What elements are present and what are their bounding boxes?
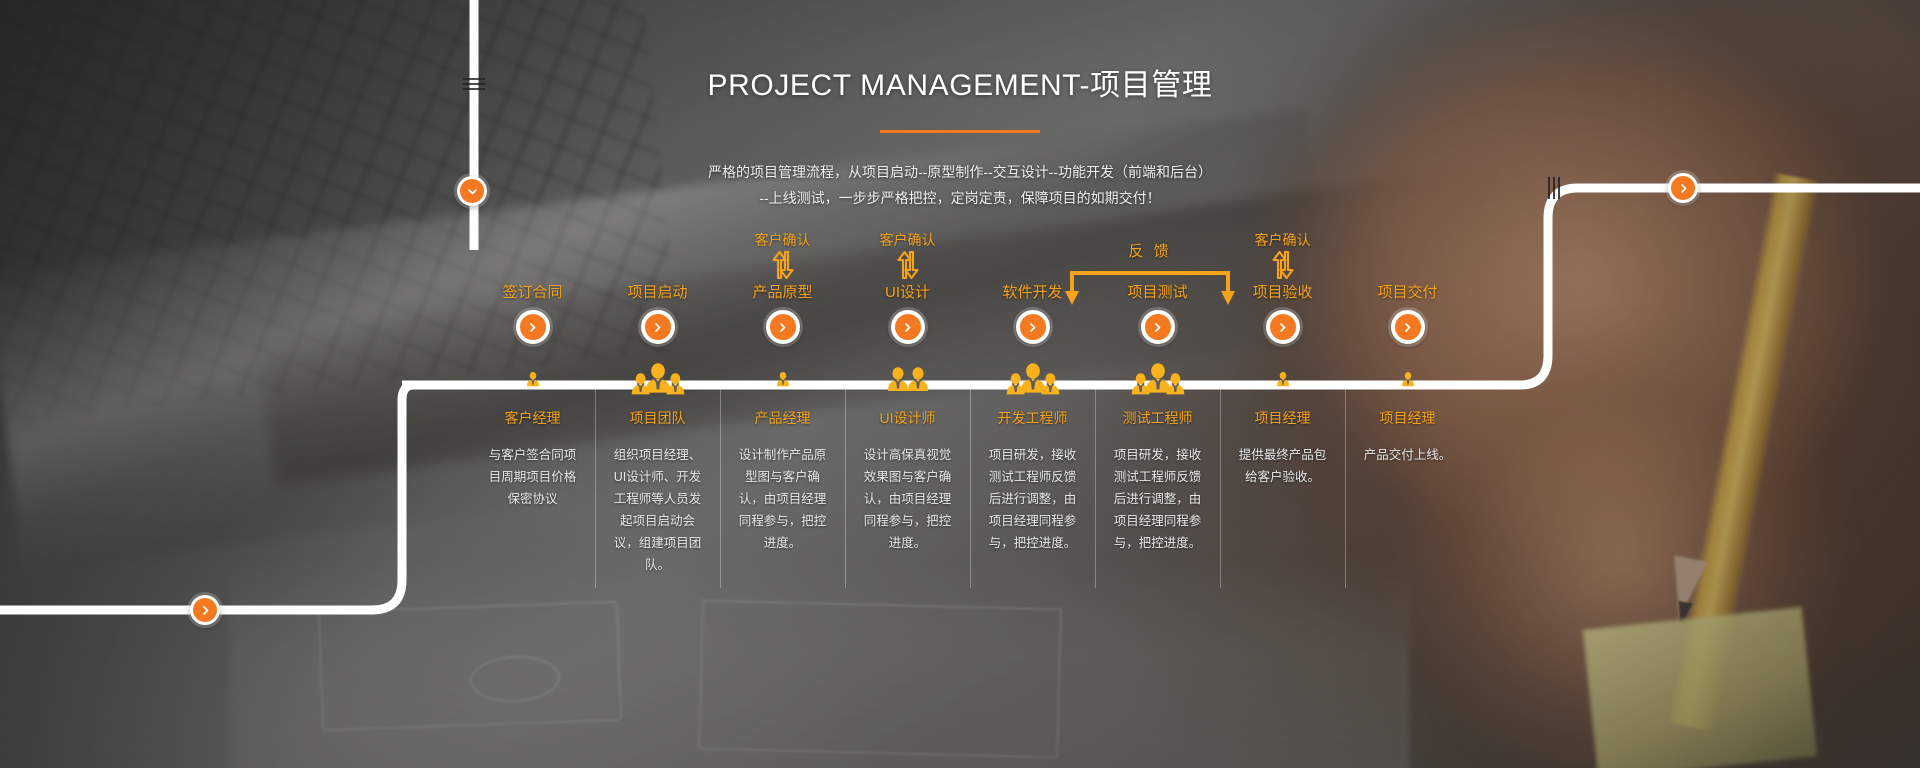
- node-bottom-left[interactable]: [190, 595, 220, 625]
- step-node-row: [1220, 304, 1345, 346]
- title-underline-rule: [880, 130, 1040, 133]
- confirm-icon-wrap: [845, 252, 970, 282]
- step-phase-label: 项目验收: [1220, 282, 1345, 304]
- subtitle-line-2: --上线测试，一步步严格把控，定岗定责，保障项目的如期交付！: [0, 185, 1920, 211]
- confirm-area: 客户确认: [720, 222, 845, 282]
- step-node[interactable]: [891, 310, 925, 344]
- chevron-right-icon: [901, 321, 914, 334]
- step-phase-label: 产品原型: [720, 282, 845, 304]
- customer-confirm-label: 客户确认: [720, 230, 845, 250]
- step-node-row: [1095, 304, 1220, 346]
- step-node-row: [970, 304, 1095, 346]
- single-person-icon: [470, 354, 595, 402]
- step-node[interactable]: [1391, 310, 1425, 344]
- node-right-end[interactable]: [1668, 173, 1698, 203]
- chevron-right-icon: [199, 604, 212, 617]
- process-step[interactable]: 项目测试测试工程师项目研发，接收测试工程师反馈后进行调整，由项目经理同程参与，把…: [1095, 222, 1220, 576]
- subtitle-line-1: 严格的项目管理流程，从项目启动--原型制作--交互设计--功能开发（前端和后台）: [0, 159, 1920, 185]
- process-step[interactable]: 软件开发开发工程师项目研发，接收测试工程师反馈后进行调整，由项目经理同程参与，把…: [970, 222, 1095, 576]
- step-node-row: [1345, 304, 1470, 346]
- process-step[interactable]: 客户确认产品原型产品经理设计制作产品原型图与客户确认，由项目经理同程参与，把控进…: [720, 222, 845, 576]
- process-steps: 签订合同客户经理与客户签合同项目周期项目价格保密协议项目启动项目团队组织项目经理…: [470, 222, 1470, 576]
- step-description: 设计制作产品原型图与客户确认，由项目经理同程参与，把控进度。: [737, 444, 829, 554]
- step-description: 设计高保真视觉效果图与客户确认，由项目经理同程参与，把控进度。: [862, 444, 954, 554]
- customer-confirm-label: 客户确认: [1220, 230, 1345, 250]
- process-step[interactable]: 客户确认UI设计UI设计师设计高保真视觉效果图与客户确认，由项目经理同程参与，把…: [845, 222, 970, 576]
- up-down-arrows-icon: [768, 250, 798, 285]
- step-role-label: UI设计师: [845, 408, 970, 428]
- step-description: 提供最终产品包给客户验收。: [1237, 444, 1329, 488]
- up-down-arrows-icon: [893, 250, 923, 285]
- column-divider: [970, 388, 971, 588]
- step-role-label: 项目经理: [1345, 408, 1470, 428]
- step-description: 项目研发，接收测试工程师反馈后进行调整，由项目经理同程参与，把控进度。: [987, 444, 1079, 554]
- step-node[interactable]: [516, 310, 550, 344]
- process-step[interactable]: 项目交付项目经理产品交付上线。: [1345, 222, 1470, 576]
- step-node[interactable]: [1266, 310, 1300, 344]
- confirm-area: [1345, 222, 1470, 282]
- confirm-area: [970, 222, 1095, 282]
- page-subtitle: 严格的项目管理流程，从项目启动--原型制作--交互设计--功能开发（前端和后台）…: [0, 159, 1920, 211]
- step-phase-label: 软件开发: [970, 282, 1095, 304]
- step-role-label: 客户经理: [470, 408, 595, 428]
- three-people-icon: [595, 354, 720, 402]
- step-node-row: [845, 304, 970, 346]
- node-top-left[interactable]: [457, 176, 487, 206]
- confirm-icon-wrap: [1220, 252, 1345, 282]
- three-people-icon: [1095, 354, 1220, 402]
- header: PROJECT MANAGEMENT-项目管理 严格的项目管理流程，从项目启动-…: [0, 60, 1920, 211]
- step-role-label: 项目经理: [1220, 408, 1345, 428]
- step-description: 与客户签合同项目周期项目价格保密协议: [487, 444, 579, 510]
- process-step[interactable]: 项目启动项目团队组织项目经理、UI设计师、开发工程师等人员发起项目启动会议，组建…: [595, 222, 720, 576]
- step-phase-label: UI设计: [845, 282, 970, 304]
- step-description: 产品交付上线。: [1362, 444, 1454, 466]
- confirm-area: [1095, 222, 1220, 282]
- customer-confirm-badge: 客户确认: [1220, 230, 1345, 282]
- step-node[interactable]: [641, 310, 675, 344]
- chevron-right-icon: [526, 321, 539, 334]
- page-title: PROJECT MANAGEMENT-项目管理: [0, 60, 1920, 104]
- single-person-icon: [1345, 354, 1470, 402]
- chevron-right-icon: [1026, 321, 1039, 334]
- chevron-right-icon: [651, 321, 664, 334]
- column-divider: [1345, 388, 1346, 588]
- step-role-label: 开发工程师: [970, 408, 1095, 428]
- step-node[interactable]: [1141, 310, 1175, 344]
- step-role-label: 项目团队: [595, 408, 720, 428]
- step-node-row: [720, 304, 845, 346]
- step-phase-label: 项目启动: [595, 282, 720, 304]
- up-down-arrows-icon: [1268, 250, 1298, 285]
- chevron-right-icon: [1401, 321, 1414, 334]
- step-node[interactable]: [766, 310, 800, 344]
- customer-confirm-badge: 客户确认: [720, 230, 845, 282]
- column-divider: [845, 388, 846, 588]
- customer-confirm-badge: 客户确认: [845, 230, 970, 282]
- step-node-row: [595, 304, 720, 346]
- step-phase-label: 项目测试: [1095, 282, 1220, 304]
- step-description: 项目研发，接收测试工程师反馈后进行调整，由项目经理同程参与，把控进度。: [1112, 444, 1204, 554]
- column-divider: [1095, 388, 1096, 588]
- confirm-area: [470, 222, 595, 282]
- column-divider: [1220, 388, 1221, 588]
- confirm-icon-wrap: [720, 252, 845, 282]
- customer-confirm-label: 客户确认: [845, 230, 970, 250]
- step-node-row: [470, 304, 595, 346]
- chevron-right-icon: [776, 321, 789, 334]
- step-node[interactable]: [1016, 310, 1050, 344]
- step-description: 组织项目经理、UI设计师、开发工程师等人员发起项目启动会议，组建项目团队。: [612, 444, 704, 576]
- confirm-area: 客户确认: [845, 222, 970, 282]
- step-role-label: 测试工程师: [1095, 408, 1220, 428]
- process-step[interactable]: 签订合同客户经理与客户签合同项目周期项目价格保密协议: [470, 222, 595, 576]
- step-role-label: 产品经理: [720, 408, 845, 428]
- step-phase-label: 签订合同: [470, 282, 595, 304]
- confirm-area: [595, 222, 720, 282]
- single-person-icon: [1220, 354, 1345, 402]
- chevron-right-icon: [1151, 321, 1164, 334]
- three-people-icon: [970, 354, 1095, 402]
- chevron-right-icon: [1276, 321, 1289, 334]
- step-phase-label: 项目交付: [1345, 282, 1470, 304]
- two-people-icon: [845, 354, 970, 402]
- chevron-right-icon: [1677, 182, 1690, 195]
- column-divider: [720, 388, 721, 588]
- single-person-icon: [720, 354, 845, 402]
- chevron-down-icon: [466, 185, 479, 198]
- process-step[interactable]: 客户确认项目验收项目经理提供最终产品包给客户验收。: [1220, 222, 1345, 576]
- confirm-area: 客户确认: [1220, 222, 1345, 282]
- column-divider: [595, 388, 596, 588]
